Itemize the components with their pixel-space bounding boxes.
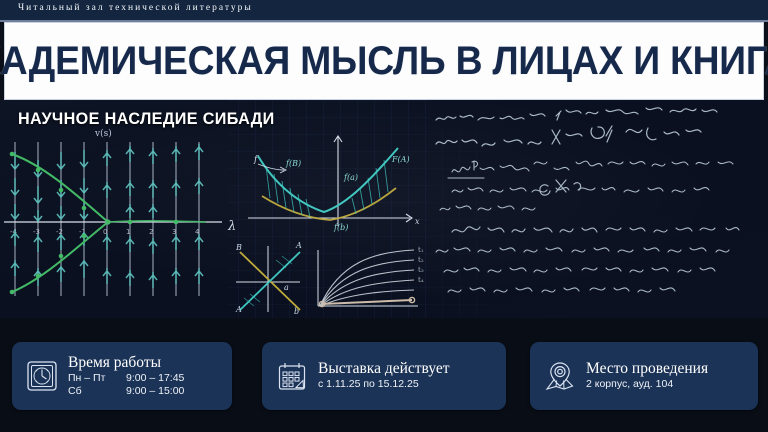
blackboard-vignette (0, 100, 768, 318)
info-card-dates-body: Выставка действует с 1.11.25 по 15.12.25 (316, 360, 450, 392)
info-card-hours[interactable]: Время работы Пн – Пт 9:00 – 17:45 Сб 9:0… (12, 342, 232, 410)
hours-saturday-value: 9:00 – 15:00 (126, 385, 184, 399)
hours-row-saturday: Сб 9:00 – 15:00 (68, 385, 184, 399)
title-band: АКАДЕМИЧЕСКАЯ МЫСЛЬ В ЛИЦАХ И КНИГАХ (4, 22, 764, 100)
info-card-place-heading: Место проведения (586, 360, 708, 378)
info-card-place-address: 2 корпус, ауд. 104 (586, 378, 708, 392)
info-card-hours-body: Время работы Пн – Пт 9:00 – 17:45 Сб 9:0… (66, 354, 184, 399)
map-pin-icon (536, 359, 584, 393)
hours-row-weekdays: Пн – Пт 9:00 – 17:45 (68, 372, 184, 386)
clock-icon (18, 359, 66, 393)
calendar-icon (268, 359, 316, 393)
hours-saturday-label: Сб (68, 385, 126, 399)
hours-weekdays-label: Пн – Пт (68, 372, 126, 386)
info-card-dates-range: с 1.11.25 по 15.12.25 (318, 378, 450, 392)
info-card-hours-heading: Время работы (68, 354, 184, 372)
top-bar: Читальный зал технической литературы (0, 0, 768, 21)
page-subtitle: НАУЧНОЕ НАСЛЕДИЕ СИБАДИ (18, 110, 275, 128)
blackboard-image: λ v(s) -4-3-2 -101 234 (0, 100, 768, 318)
info-card-place[interactable]: Место проведения 2 корпус, ауд. 104 (530, 342, 758, 410)
info-card-place-body: Место проведения 2 корпус, ауд. 104 (584, 360, 708, 392)
info-card-dates[interactable]: Выставка действует с 1.11.25 по 15.12.25 (262, 342, 506, 410)
info-card-dates-heading: Выставка действует (318, 360, 450, 378)
top-bar-label: Читальный зал технической литературы (18, 3, 253, 13)
hours-weekdays-value: 9:00 – 17:45 (126, 372, 184, 386)
page-title: АКАДЕМИЧЕСКАЯ МЫСЛЬ В ЛИЦАХ И КНИГАХ (0, 41, 768, 81)
poster: Читальный зал технической литературы АКА… (0, 0, 768, 432)
